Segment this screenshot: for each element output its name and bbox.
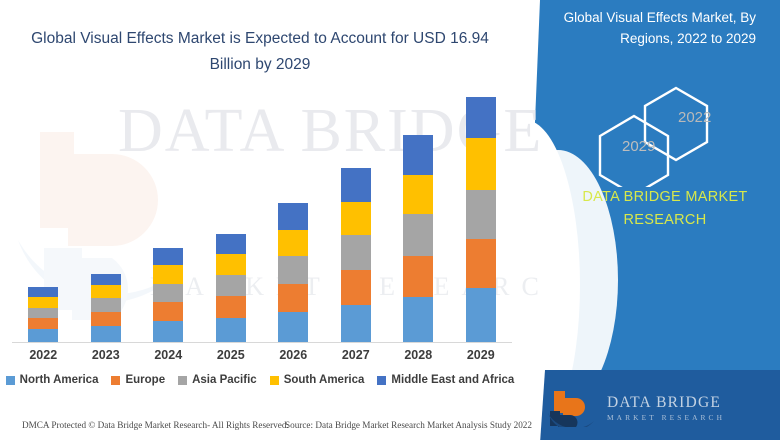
right-panel-title: Global Visual Effects Market, By Regions… <box>526 8 756 50</box>
logo-subtitle: MARKET RESEARCH <box>607 414 725 421</box>
logo-title: DATA BRIDGE <box>607 395 725 411</box>
hex-badge-label-2022: 2022 <box>678 109 711 126</box>
company-logo: DATA BRIDGE MARKET RESEARCH <box>548 388 763 428</box>
b-bridge-logo-icon <box>548 389 600 427</box>
hexagon-outlines-icon <box>586 82 766 187</box>
infographic-root: DATA BRIDGE MARKET RESEARCH Global Visua… <box>0 0 780 440</box>
brand-name: DATA BRIDGE MARKET RESEARCH <box>560 186 770 232</box>
hex-badge-label-2029: 2029 <box>622 138 655 155</box>
hexagon-badges: 2022 2029 <box>586 82 766 187</box>
